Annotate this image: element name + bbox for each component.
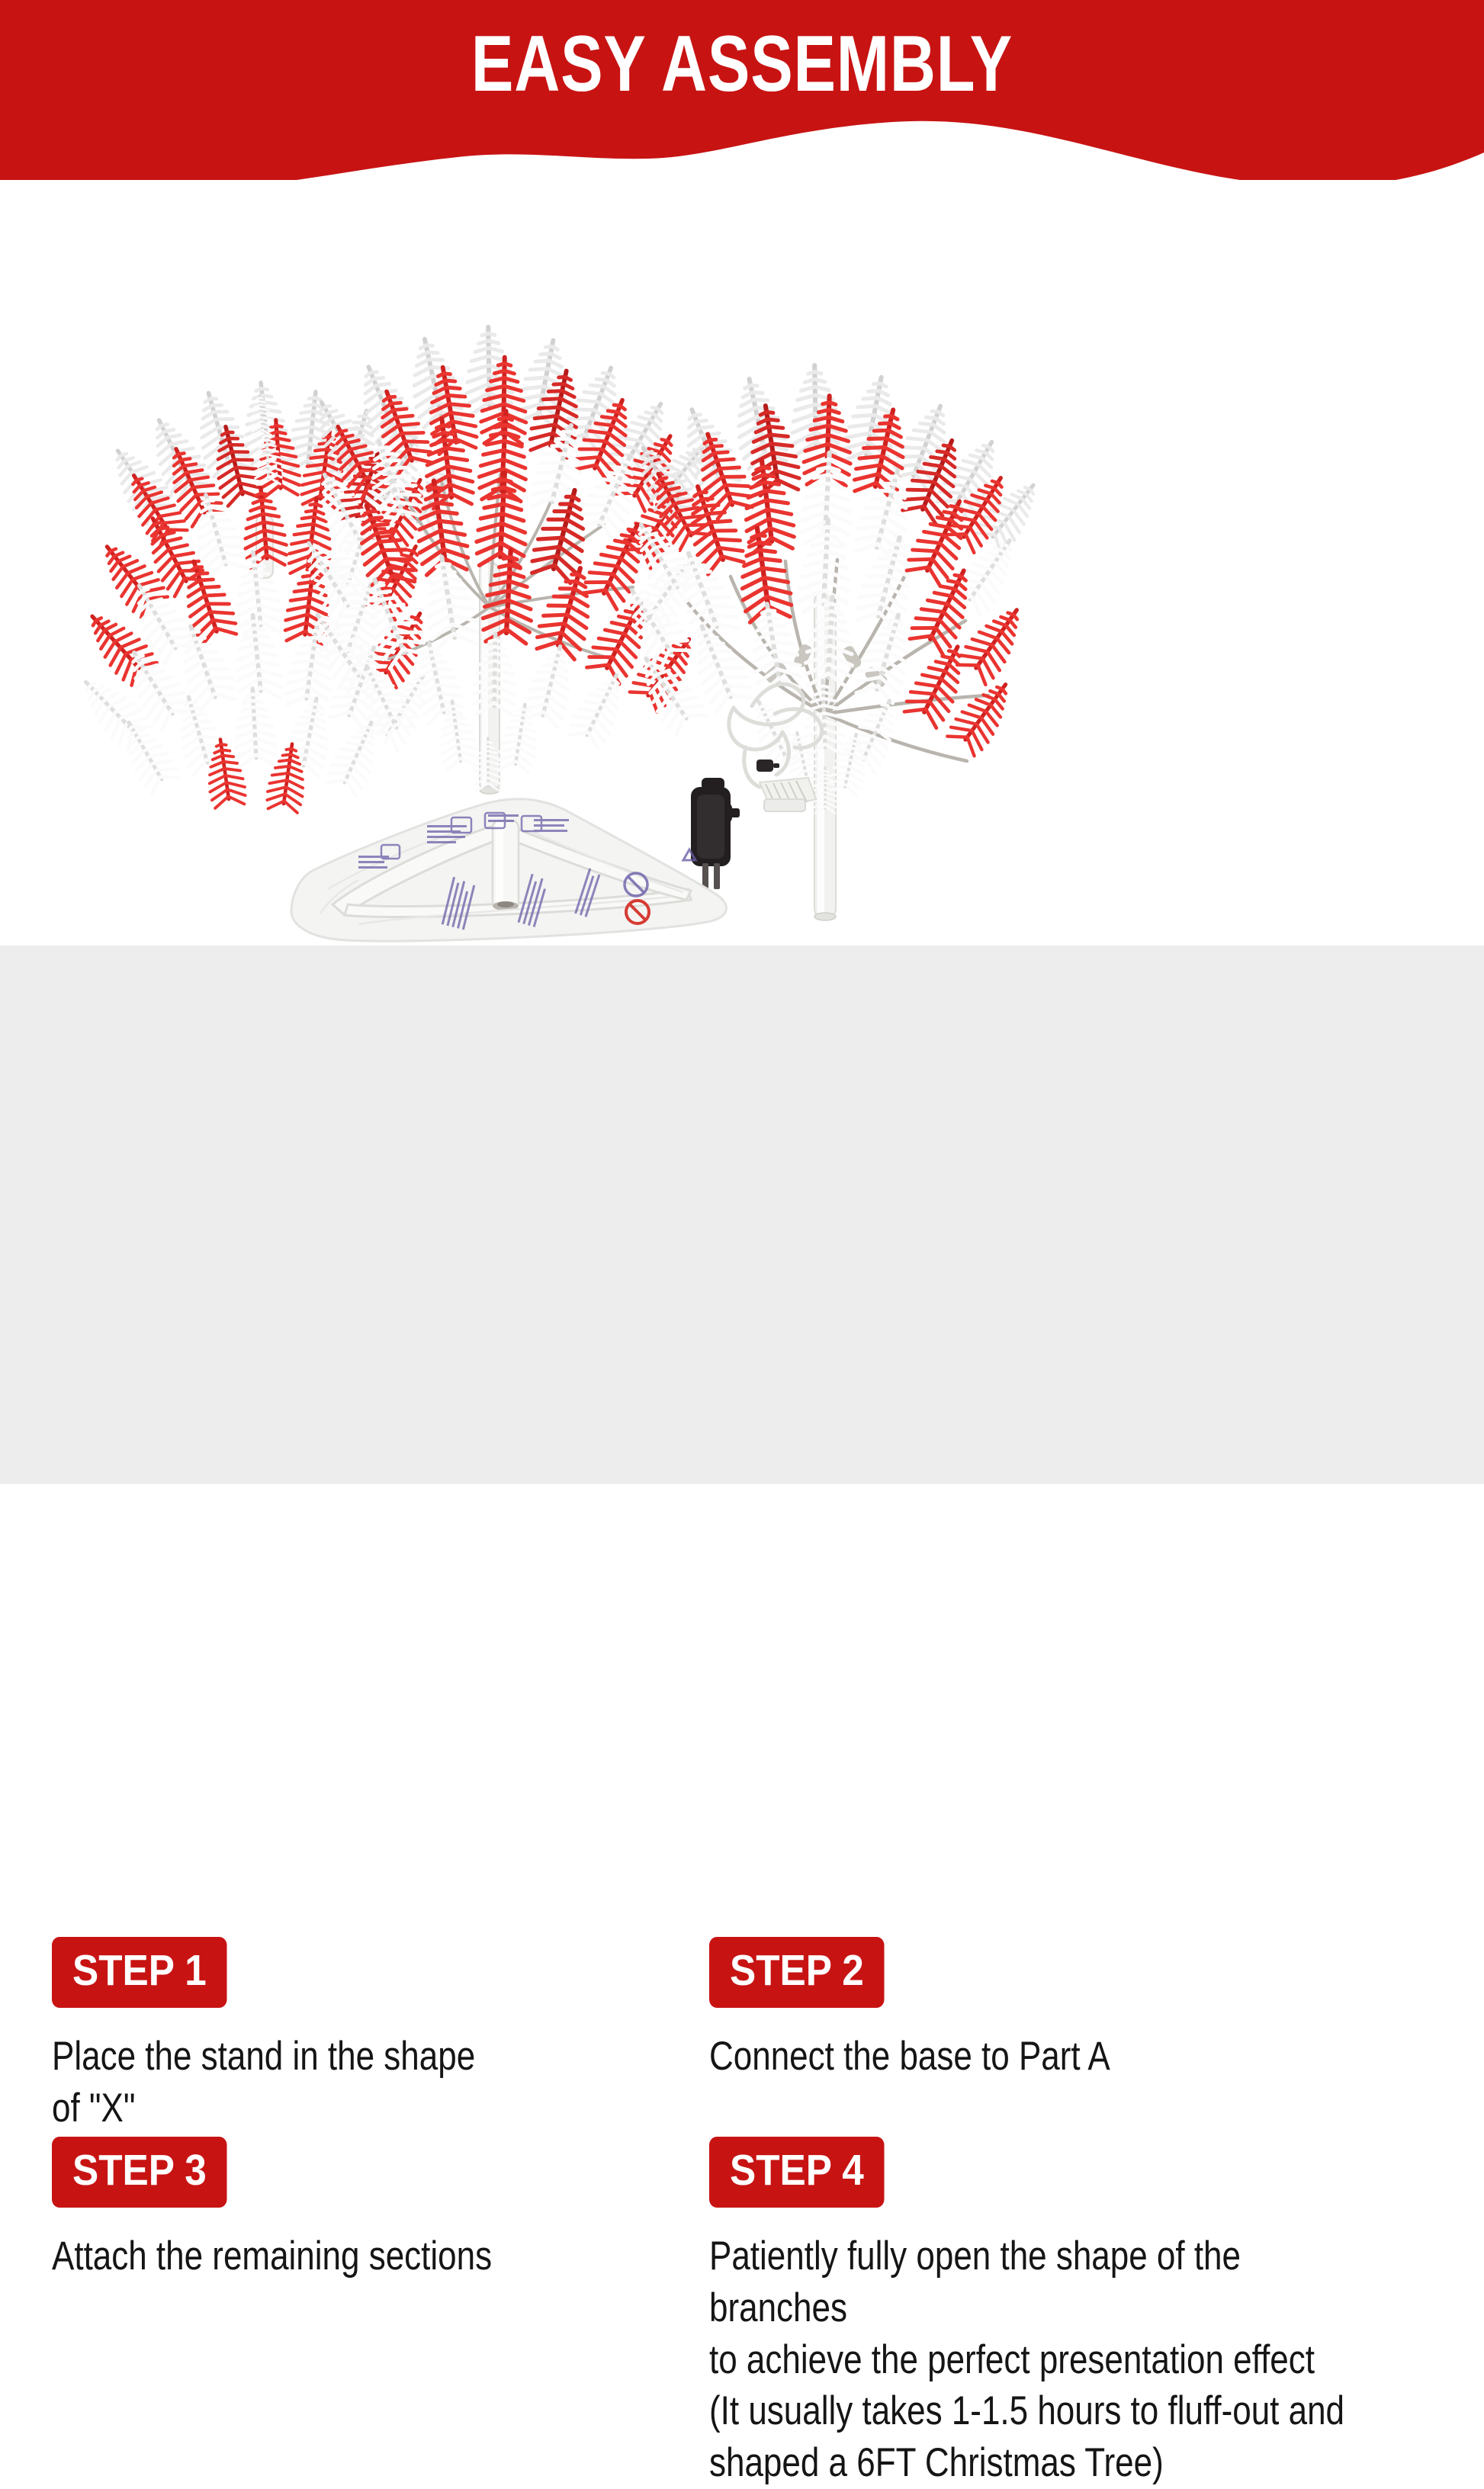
step-1-text: Place the stand in the shape of "X" bbox=[52, 2031, 571, 2134]
steps-panel: STEP 1 Place the stand in the shape of "… bbox=[0, 946, 1484, 1484]
tree-stand-center-pole bbox=[493, 821, 519, 910]
step-2: STEP 2 Connect the base to Part A bbox=[709, 1937, 1472, 2083]
step-2-text: Connect the base to Part A bbox=[709, 2031, 1342, 2083]
step-1-badge: STEP 1 bbox=[52, 1937, 227, 2008]
step-3-badge: STEP 3 bbox=[52, 2137, 227, 2208]
step-4-badge: STEP 4 bbox=[709, 2137, 885, 2208]
infographic-page: EASY ASSEMBLY bbox=[0, 0, 1484, 1484]
tree-section-left bbox=[72, 381, 471, 813]
power-adapter-plug bbox=[691, 778, 731, 889]
light-string-connector bbox=[760, 778, 816, 811]
tree-stand-bagged bbox=[291, 799, 727, 941]
tree-section-right-pole bbox=[814, 592, 836, 920]
step-3: STEP 3 Attach the remaining sections bbox=[52, 2137, 677, 2282]
step-4-text: Patiently fully open the shape of the br… bbox=[709, 2230, 1348, 2489]
page-title: EASY ASSEMBLY bbox=[149, 23, 1336, 106]
step-2-badge: STEP 2 bbox=[709, 1937, 885, 2008]
tree-section-right bbox=[614, 365, 1048, 920]
step-3-text: Attach the remaining sections bbox=[52, 2230, 571, 2282]
light-string-knob bbox=[756, 760, 779, 772]
step-4: STEP 4 Patiently fully open the shape of… bbox=[709, 2137, 1479, 2489]
step-1: STEP 1 Place the stand in the shape of "… bbox=[52, 1937, 677, 2134]
product-photo-illustration bbox=[0, 180, 1484, 946]
product-photo bbox=[0, 180, 1484, 946]
header-banner: EASY ASSEMBLY bbox=[0, 0, 1484, 198]
